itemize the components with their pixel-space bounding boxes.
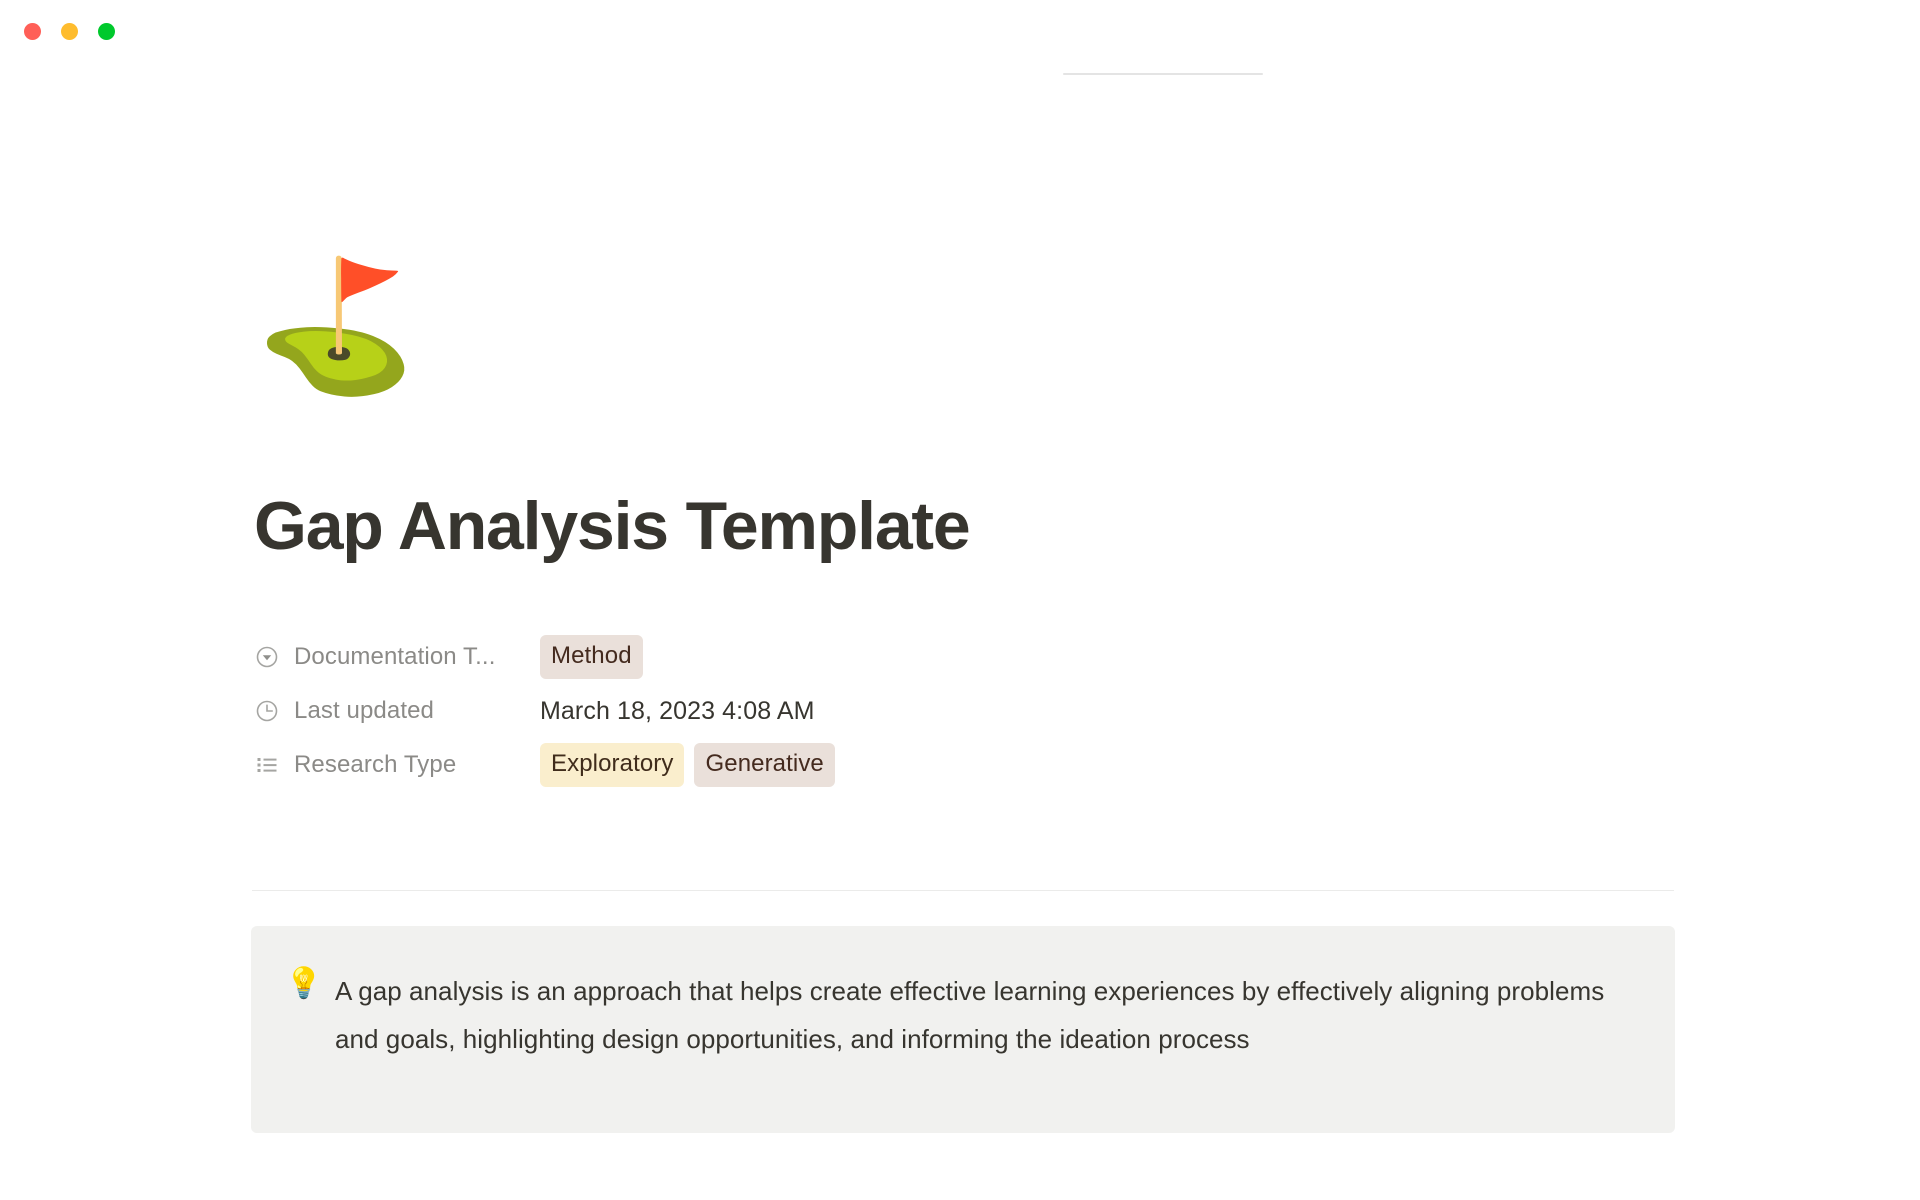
- callout-text: A gap analysis is an approach that helps…: [329, 966, 1635, 1093]
- last-updated-timestamp: March 18, 2023 4:08 AM: [540, 697, 815, 726]
- document-page: ⛳ Gap Analysis Template Documentation T.…: [0, 0, 1920, 1200]
- property-label-research-type[interactable]: Research Type: [254, 751, 540, 779]
- tag-generative[interactable]: Generative: [694, 743, 834, 787]
- property-value-last-updated[interactable]: March 18, 2023 4:08 AM: [540, 697, 1674, 726]
- property-row-documentation-type: Documentation T... Method: [254, 630, 1674, 684]
- tag-exploratory[interactable]: Exploratory: [540, 743, 684, 787]
- list-icon: [254, 752, 280, 778]
- property-name-last-updated: Last updated: [294, 697, 434, 725]
- tag-method[interactable]: Method: [540, 635, 643, 679]
- select-chevron-circle-icon: [254, 644, 280, 670]
- page-title[interactable]: Gap Analysis Template: [254, 487, 970, 565]
- light-bulb-emoji: 💡: [285, 966, 329, 1093]
- property-row-research-type: Research Type Exploratory Generative: [254, 738, 1674, 792]
- property-value-documentation-type[interactable]: Method: [540, 635, 1674, 679]
- property-label-documentation-type[interactable]: Documentation T...: [254, 643, 540, 671]
- page-properties: Documentation T... Method Last updated M…: [254, 630, 1674, 792]
- golf-flag-emoji[interactable]: ⛳: [256, 247, 416, 407]
- clock-icon: [254, 698, 280, 724]
- callout-block[interactable]: 💡 A gap analysis is an approach that hel…: [251, 926, 1675, 1133]
- property-name-research-type: Research Type: [294, 751, 456, 779]
- property-row-last-updated: Last updated March 18, 2023 4:08 AM: [254, 684, 1674, 738]
- property-label-last-updated[interactable]: Last updated: [254, 697, 540, 725]
- content-divider: [252, 890, 1674, 891]
- property-name-documentation-type: Documentation T...: [294, 643, 495, 671]
- property-value-research-type[interactable]: Exploratory Generative: [540, 743, 1674, 787]
